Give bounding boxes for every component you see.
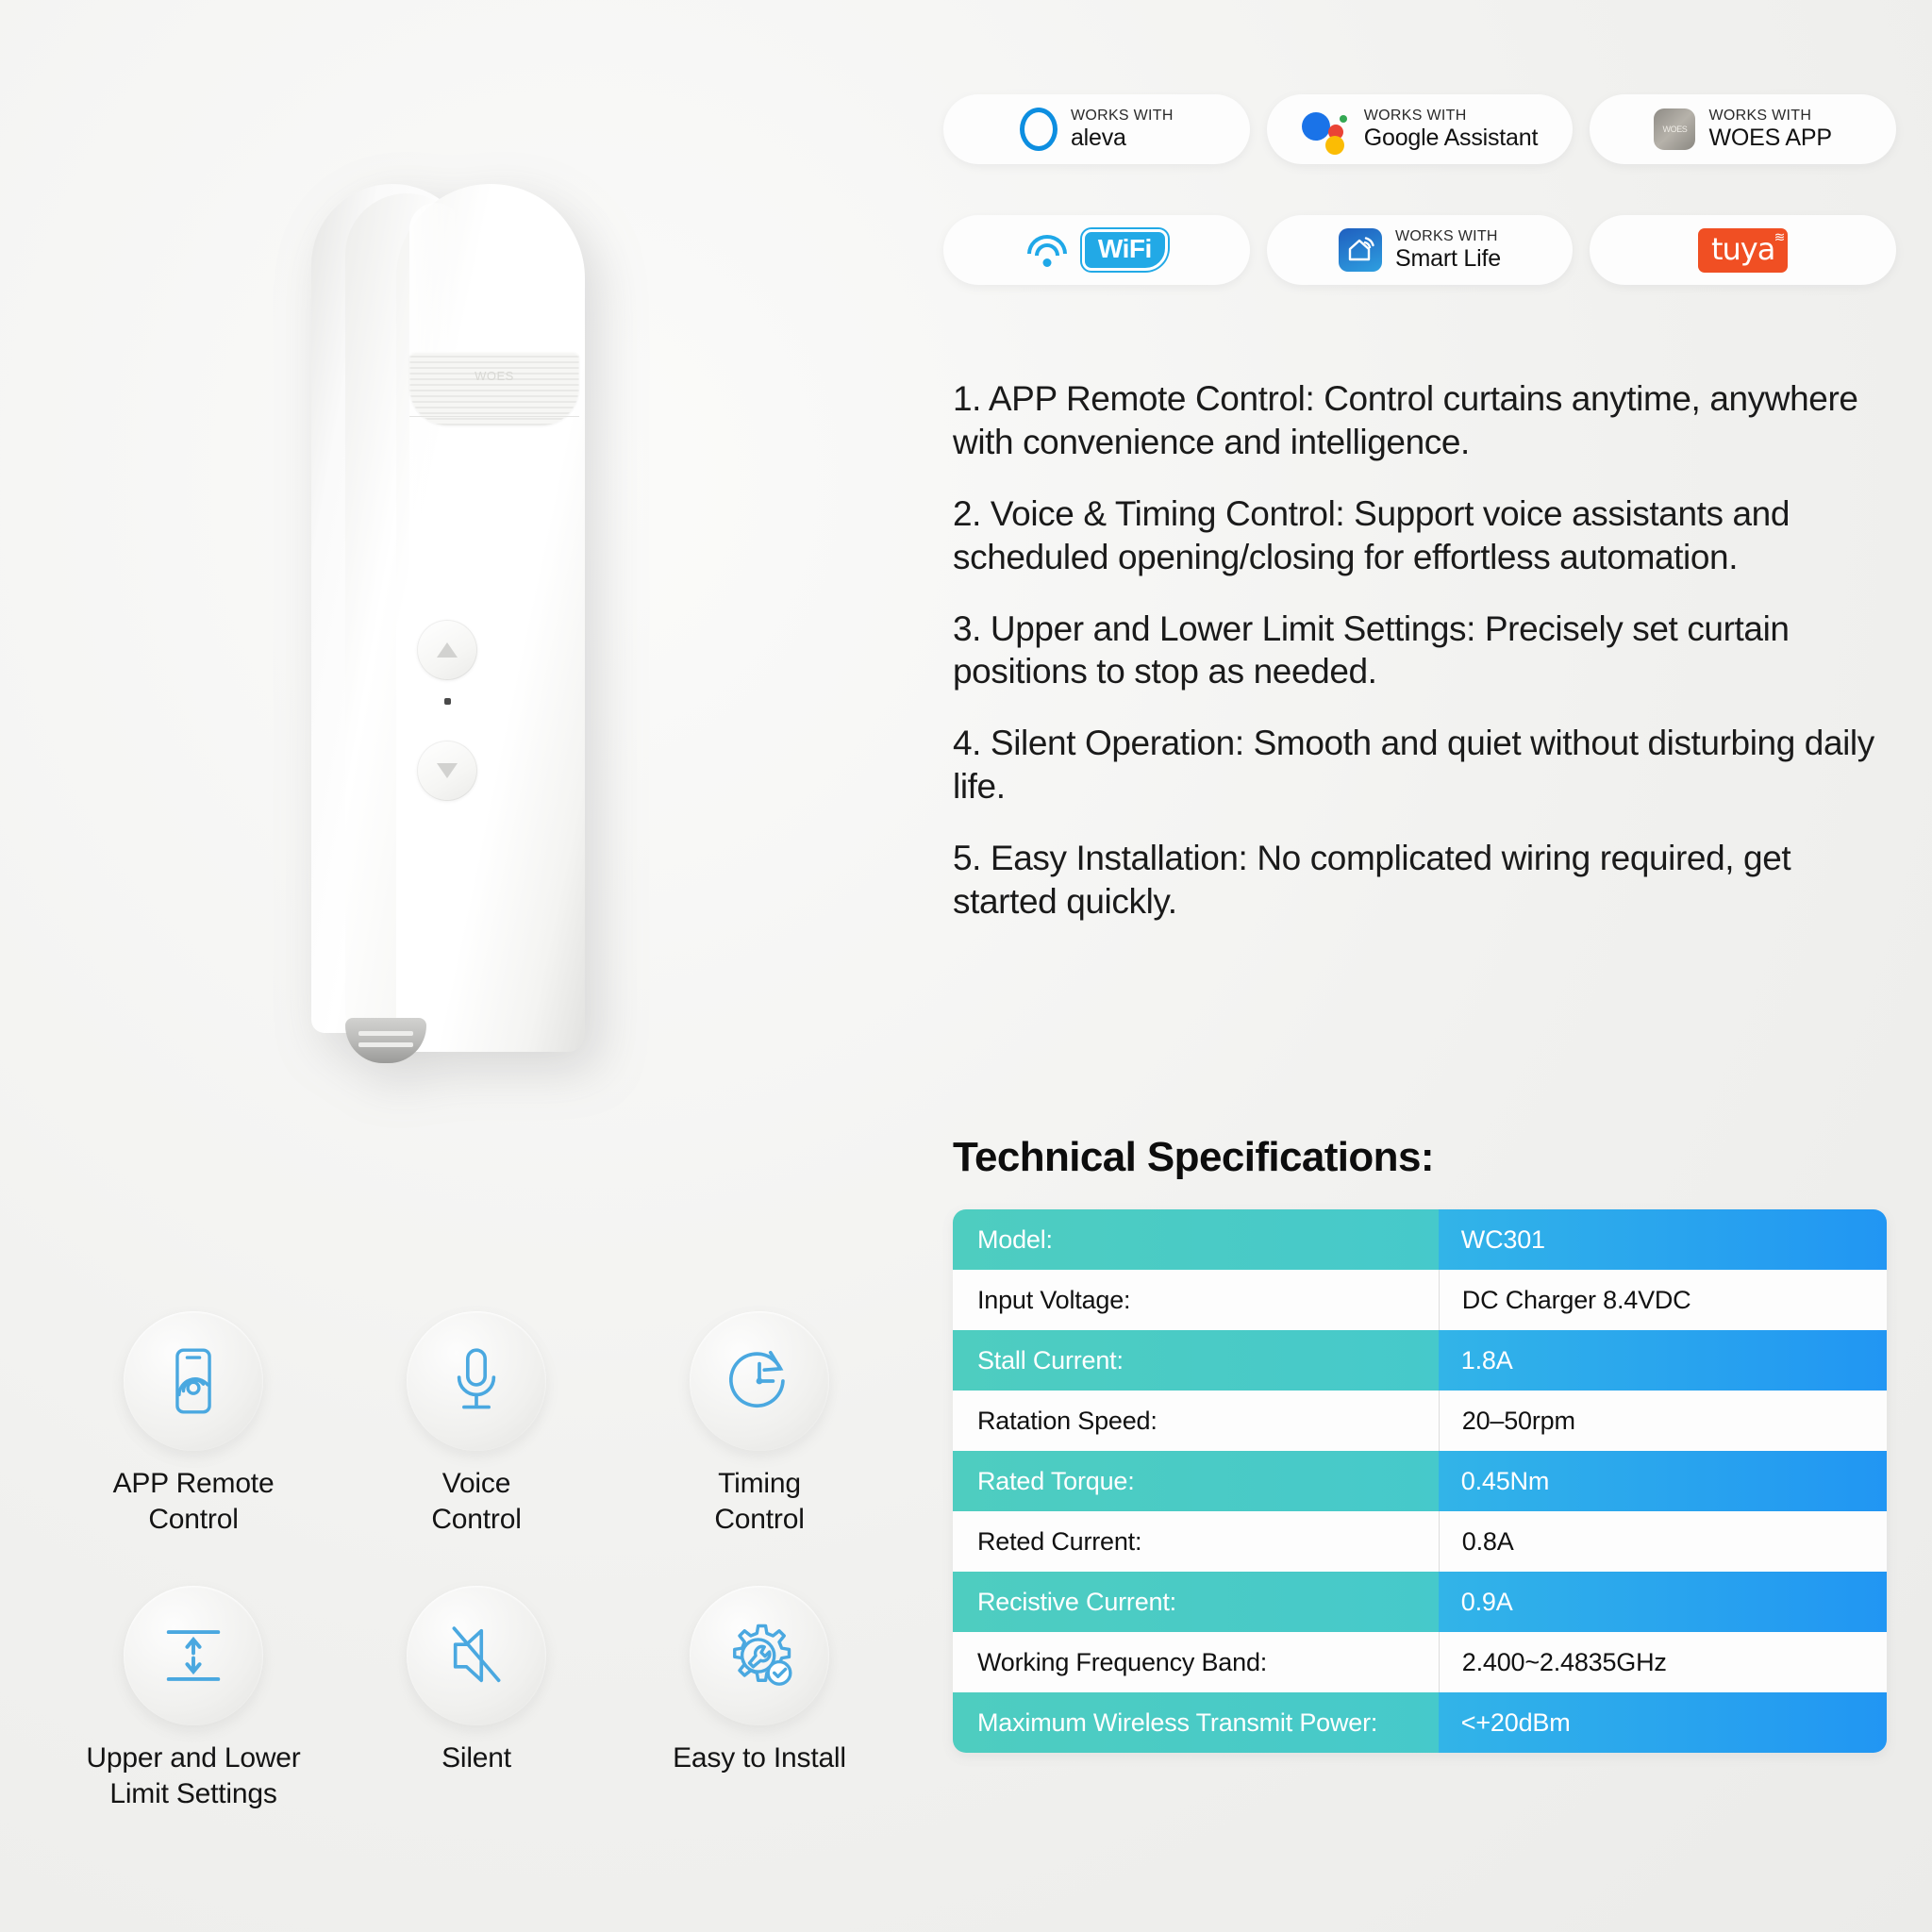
device-led-indicator <box>444 698 451 705</box>
mute-speaker-icon <box>437 1616 516 1695</box>
spec-value: 2.400~2.4835GHz <box>1439 1632 1887 1692</box>
feature-label: VoiceControl <box>335 1466 618 1539</box>
feature-label: APP RemoteControl <box>52 1466 335 1539</box>
wifi-icon <box>1025 233 1069 267</box>
table-row: Stall Current: 1.8A <box>953 1330 1887 1391</box>
table-row: Rated Torque: 0.45Nm <box>953 1451 1887 1511</box>
badge-brand-name: WOES APP <box>1708 125 1831 151</box>
device-front-body <box>396 184 585 1052</box>
spec-key: Stall Current: <box>953 1330 1439 1391</box>
feature-list: 1. APP Remote Control: Control curtains … <box>953 377 1896 952</box>
spec-value: 1.8A <box>1439 1330 1887 1391</box>
spec-value: 0.9A <box>1439 1572 1887 1632</box>
feature-paragraph: 3. Upper and Lower Limit Settings: Preci… <box>953 608 1896 694</box>
badge-google-assistant: WORKS WITH Google Assistant <box>1267 94 1574 164</box>
gear-wrench-check-icon <box>720 1616 799 1695</box>
compatibility-badges-row-1: WORKS WITH aleva WORKS WITH Google Assis… <box>943 94 1896 164</box>
device-seam <box>409 416 579 454</box>
spec-key: Model: <box>953 1209 1439 1270</box>
phone-remote-icon <box>154 1341 233 1421</box>
table-row: Model: WC301 <box>953 1209 1887 1270</box>
feature-icon-bubble <box>690 1586 829 1725</box>
smart-life-icon <box>1339 228 1382 272</box>
feature-item-limit-settings: Upper and LowerLimit Settings <box>52 1586 335 1813</box>
device-up-button[interactable] <box>417 620 477 680</box>
woes-app-icon: WOES <box>1654 108 1695 150</box>
feature-item-app-remote-control: APP RemoteControl <box>52 1311 335 1539</box>
right-column: WORKS WITH aleva WORKS WITH Google Assis… <box>943 0 1932 1932</box>
feature-label: Easy to Install <box>618 1740 901 1776</box>
badge-brand-name: Google Assistant <box>1364 125 1538 151</box>
limit-settings-icon <box>154 1616 233 1695</box>
spec-key: Ratation Speed: <box>953 1391 1439 1451</box>
feature-icon-bubble <box>124 1586 263 1725</box>
spec-value: DC Charger 8.4VDC <box>1439 1270 1887 1330</box>
feature-label: TimingControl <box>618 1466 901 1539</box>
badge-works-with-label: WORKS WITH <box>1708 108 1811 124</box>
table-row: Maximum Wireless Transmit Power: <+20dBm <box>953 1692 1887 1753</box>
feature-paragraph: 5. Easy Installation: No complicated wir… <box>953 837 1896 924</box>
feature-icon-bubble <box>124 1311 263 1451</box>
spec-table: Model: WC301 Input Voltage: DC Charger 8… <box>953 1209 1887 1753</box>
spec-key: Reted Current: <box>953 1511 1439 1572</box>
spec-key: Maximum Wireless Transmit Power: <box>953 1692 1439 1753</box>
device-rib-panel: WOES <box>409 352 579 425</box>
compatibility-badges-row-2: WiFi WORKS WITH Smart Life tuya≋ <box>943 215 1896 285</box>
badge-smart-life: WORKS WITH Smart Life <box>1267 215 1574 285</box>
device-brand-mark: WOES <box>475 369 514 383</box>
badge-woes-app: WOES WORKS WITH WOES APP <box>1590 94 1896 164</box>
table-row: Recistive Current: 0.9A <box>953 1572 1887 1632</box>
table-row: Input Voltage: DC Charger 8.4VDC <box>953 1270 1887 1330</box>
spec-value: 20–50rpm <box>1439 1391 1887 1451</box>
spec-key: Recistive Current: <box>953 1572 1439 1632</box>
badge-tuya: tuya≋ <box>1590 215 1896 285</box>
feature-paragraph: 1. APP Remote Control: Control curtains … <box>953 377 1896 464</box>
table-row: Reted Current: 0.8A <box>953 1511 1887 1572</box>
badge-works-with-label: WORKS WITH <box>1071 108 1174 124</box>
badge-alexa: WORKS WITH aleva <box>943 94 1250 164</box>
device-roller-foot <box>345 1018 426 1063</box>
spec-key: Working Frequency Band: <box>953 1632 1439 1692</box>
feature-label: Upper and LowerLimit Settings <box>52 1740 335 1813</box>
device-down-button[interactable] <box>417 741 477 801</box>
feature-label: Silent <box>335 1740 618 1776</box>
product-photo: WOES <box>0 0 943 1217</box>
feature-icon-bubble <box>690 1311 829 1451</box>
spec-value: <+20dBm <box>1439 1692 1887 1753</box>
spec-value: WC301 <box>1439 1209 1887 1270</box>
badge-brand-name: aleva <box>1071 125 1126 151</box>
feature-item-timing-control: TimingControl <box>618 1311 901 1539</box>
curtain-motor-device: WOES <box>311 184 585 1071</box>
feature-item-silent: Silent <box>335 1586 618 1813</box>
alexa-icon <box>1020 108 1058 151</box>
spec-key: Rated Torque: <box>953 1451 1439 1511</box>
table-row: Ratation Speed: 20–50rpm <box>953 1391 1887 1451</box>
feature-paragraph: 4. Silent Operation: Smooth and quiet wi… <box>953 722 1896 808</box>
badge-wifi: WiFi <box>943 215 1250 285</box>
badge-works-with-label: WORKS WITH <box>1364 108 1467 124</box>
badge-works-with-label: WORKS WITH <box>1395 228 1498 244</box>
spec-section-title: Technical Specifications: <box>953 1134 1434 1181</box>
wifi-wordmark: WiFi <box>1082 229 1168 271</box>
feature-item-voice-control: VoiceControl <box>335 1311 618 1539</box>
spec-key: Input Voltage: <box>953 1270 1439 1330</box>
spec-value: 0.45Nm <box>1439 1451 1887 1511</box>
product-listing-page: WOES <box>0 0 1932 1932</box>
badge-brand-name: Smart Life <box>1395 245 1501 272</box>
feature-paragraph: 2. Voice & Timing Control: Support voice… <box>953 492 1896 579</box>
feature-item-easy-install: Easy to Install <box>618 1586 901 1813</box>
feature-icon-grid: APP RemoteControl VoiceControl <box>52 1311 901 1813</box>
feature-icon-bubble <box>407 1586 546 1725</box>
tuya-icon: tuya≋ <box>1698 228 1788 273</box>
clock-timer-icon <box>720 1341 799 1421</box>
microphone-icon <box>437 1341 516 1421</box>
tuya-wordmark: tuya <box>1711 231 1774 267</box>
up-arrow-icon <box>437 642 458 658</box>
table-row: Working Frequency Band: 2.400~2.4835GHz <box>953 1632 1887 1692</box>
spec-value: 0.8A <box>1439 1511 1887 1572</box>
feature-icon-bubble <box>407 1311 546 1451</box>
down-arrow-icon <box>437 763 458 778</box>
google-assistant-icon <box>1302 108 1351 151</box>
